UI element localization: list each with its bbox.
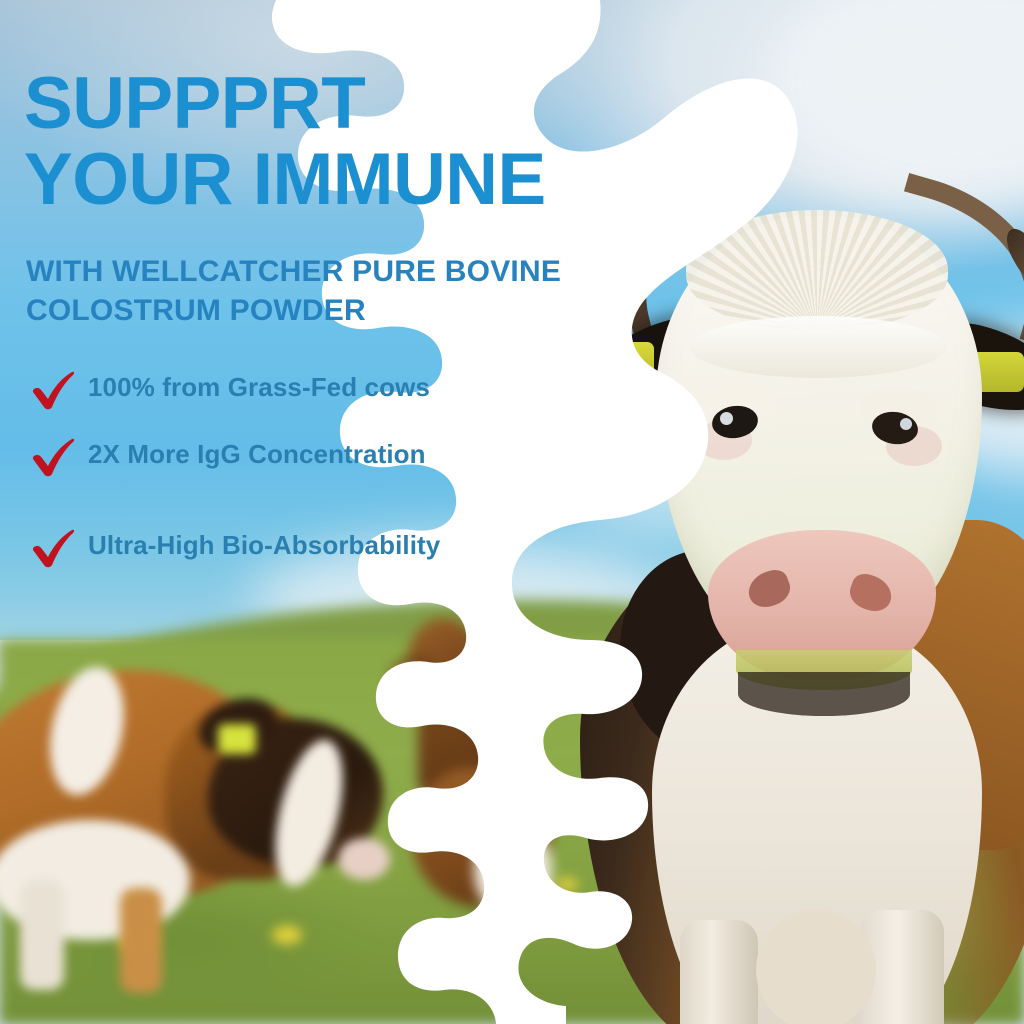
list-item-label: 2X More IgG Concentration (88, 435, 426, 473)
headline-line-1: SUPPPRT (24, 63, 365, 144)
promo-image: SUPPPRT YOUR IMMUNE WITH WELLCATCHER PUR… (0, 0, 1024, 1024)
list-item: 2X More IgG Concentration (30, 435, 550, 502)
subheadline-line-1: WITH WELLCATCHER PURE BOVINE (26, 255, 561, 288)
list-item: 100% from Grass-Fed cows (30, 368, 550, 435)
red-check-icon (30, 437, 76, 477)
text-content-layer: SUPPPRT YOUR IMMUNE WITH WELLCATCHER PUR… (0, 0, 1024, 1024)
page-title: SUPPPRT YOUR IMMUNE (24, 66, 624, 218)
list-item-label: Ultra-High Bio-Absorbability (88, 526, 440, 564)
benefits-list: 100% from Grass-Fed cows 2X More IgG Con… (30, 368, 550, 586)
list-item-label: 100% from Grass-Fed cows (88, 368, 430, 406)
subheadline: WITH WELLCATCHER PURE BOVINE COLOSTRUM P… (26, 252, 646, 330)
red-check-icon (30, 370, 76, 410)
headline-line-2: YOUR IMMUNE (24, 142, 624, 218)
list-item: Ultra-High Bio-Absorbability (30, 502, 550, 586)
red-check-icon (30, 528, 76, 568)
subheadline-line-2: COLOSTRUM POWDER (26, 294, 366, 327)
